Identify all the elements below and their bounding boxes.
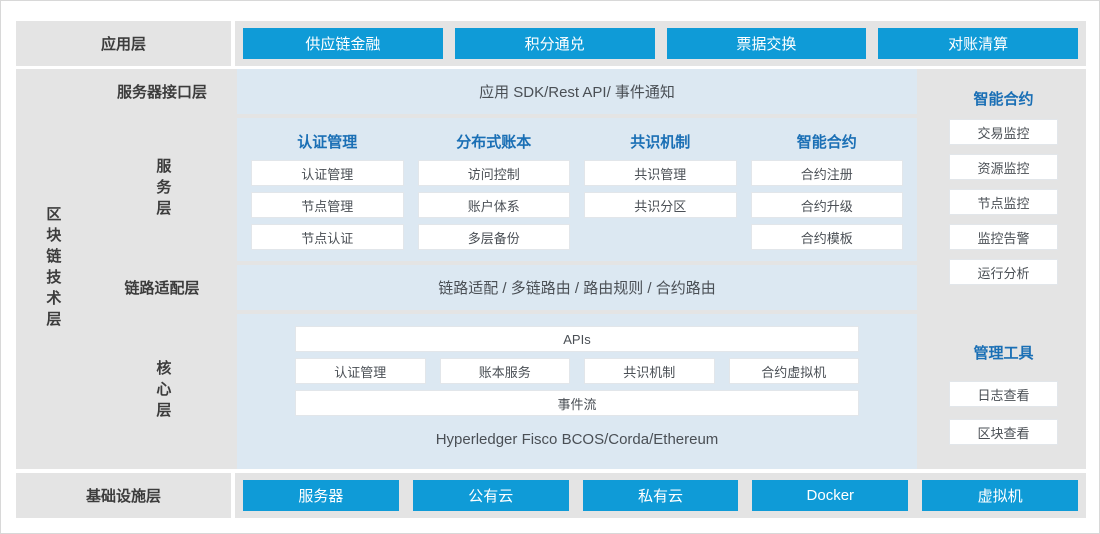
service-item[interactable]: 访问控制 [418, 160, 571, 186]
infrastructure-layer-items: 服务器 公有云 私有云 Docker 虚拟机 [235, 473, 1086, 518]
core-module-item[interactable]: 账本服务 [440, 358, 571, 384]
tech-layer-label: 区块链技术层 [16, 69, 88, 469]
core-module-item[interactable]: 认证管理 [295, 358, 426, 384]
core-apis-box[interactable]: APIs [295, 326, 859, 352]
service-item[interactable]: 账户体系 [418, 192, 571, 218]
right-panel-item[interactable]: 运行分析 [949, 259, 1058, 285]
sublabel-adapter-layer: 链路适配层 [91, 265, 233, 310]
right-panel-item[interactable]: 监控告警 [949, 224, 1058, 250]
right-panel-item[interactable]: 交易监控 [949, 119, 1058, 145]
application-layer-apps: 供应链金融 积分通兑 票据交换 对账清算 [235, 21, 1086, 66]
core-module-item[interactable]: 合约虚拟机 [729, 358, 860, 384]
service-item[interactable]: 合约升级 [751, 192, 904, 218]
service-item[interactable]: 共识管理 [584, 160, 737, 186]
service-column-smart-contract: 智能合约 合约注册 合约升级 合约模板 [751, 128, 904, 253]
app-button-points-exchange[interactable]: 积分通兑 [455, 28, 655, 59]
infra-button-public-cloud[interactable]: 公有云 [413, 480, 569, 511]
infra-button-virtual-machine[interactable]: 虚拟机 [922, 480, 1078, 511]
service-column-auth: 认证管理 认证管理 节点管理 节点认证 [251, 128, 404, 253]
right-panel-title-smart-contract: 智能合约 [921, 87, 1086, 109]
service-item[interactable]: 节点认证 [251, 224, 404, 250]
service-column-ledger: 分布式账本 访问控制 账户体系 多层备份 [418, 128, 571, 253]
service-layer-content: 认证管理 认证管理 节点管理 节点认证 分布式账本 访问控制 账户体系 多层备份… [237, 118, 917, 261]
right-panel-item[interactable]: 资源监控 [949, 154, 1058, 180]
infra-button-docker[interactable]: Docker [752, 480, 908, 511]
service-column-title-smart-contract: 智能合约 [751, 128, 904, 154]
adapter-layer-content: 链路适配 / 多链路由 / 路由规则 / 合约路由 [237, 265, 917, 310]
sublabel-core-layer: 核心层 [91, 314, 233, 469]
app-button-supply-chain-finance[interactable]: 供应链金融 [243, 28, 443, 59]
right-panel-smart-contract: 智能合约 交易监控 资源监控 节点监控 监控告警 运行分析 [921, 69, 1086, 319]
service-item[interactable]: 共识分区 [584, 192, 737, 218]
right-panel-item[interactable]: 节点监控 [949, 189, 1058, 215]
core-layer-content: APIs 认证管理 账本服务 共识机制 合约虚拟机 事件流 Hyperledge… [237, 314, 917, 469]
architecture-diagram: 应用层 供应链金融 积分通兑 票据交换 对账清算 区块链技术层 服务器接口层 服… [0, 0, 1100, 534]
right-panel-management-tools: 管理工具 日志查看 区块查看 [921, 323, 1086, 469]
service-column-title-auth: 认证管理 [251, 128, 404, 154]
right-panel-item[interactable]: 区块查看 [949, 419, 1058, 445]
app-button-bill-exchange[interactable]: 票据交换 [667, 28, 867, 59]
service-item[interactable]: 节点管理 [251, 192, 404, 218]
service-column-title-consensus: 共识机制 [584, 128, 737, 154]
core-engines-text: Hyperledger Fisco BCOS/Corda/Ethereum [237, 424, 917, 454]
application-layer-label: 应用层 [16, 21, 231, 66]
service-item[interactable]: 合约模板 [751, 224, 904, 250]
sublabel-interface-layer: 服务器接口层 [91, 69, 233, 114]
right-panel-item[interactable]: 日志查看 [949, 381, 1058, 407]
infra-button-private-cloud[interactable]: 私有云 [583, 480, 739, 511]
infrastructure-layer-label: 基础设施层 [16, 473, 231, 518]
interface-layer-content: 应用 SDK/Rest API/ 事件通知 [237, 69, 917, 114]
service-item[interactable]: 合约注册 [751, 160, 904, 186]
right-panel-title-management-tools: 管理工具 [921, 341, 1086, 363]
app-button-reconciliation-settlement[interactable]: 对账清算 [878, 28, 1078, 59]
core-event-stream-box[interactable]: 事件流 [295, 390, 859, 416]
service-item[interactable]: 认证管理 [251, 160, 404, 186]
service-column-title-ledger: 分布式账本 [418, 128, 571, 154]
tech-layer-label-text: 区块链技术层 [43, 206, 62, 332]
sublabel-service-layer-text: 服务层 [153, 158, 172, 221]
infra-button-server[interactable]: 服务器 [243, 480, 399, 511]
core-module-item[interactable]: 共识机制 [584, 358, 715, 384]
service-item[interactable]: 多层备份 [418, 224, 571, 250]
sublabel-core-layer-text: 核心层 [153, 360, 172, 423]
core-modules-row: 认证管理 账本服务 共识机制 合约虚拟机 [295, 358, 859, 384]
sublabel-service-layer: 服务层 [91, 118, 233, 261]
service-column-consensus: 共识机制 共识管理 共识分区 [584, 128, 737, 253]
